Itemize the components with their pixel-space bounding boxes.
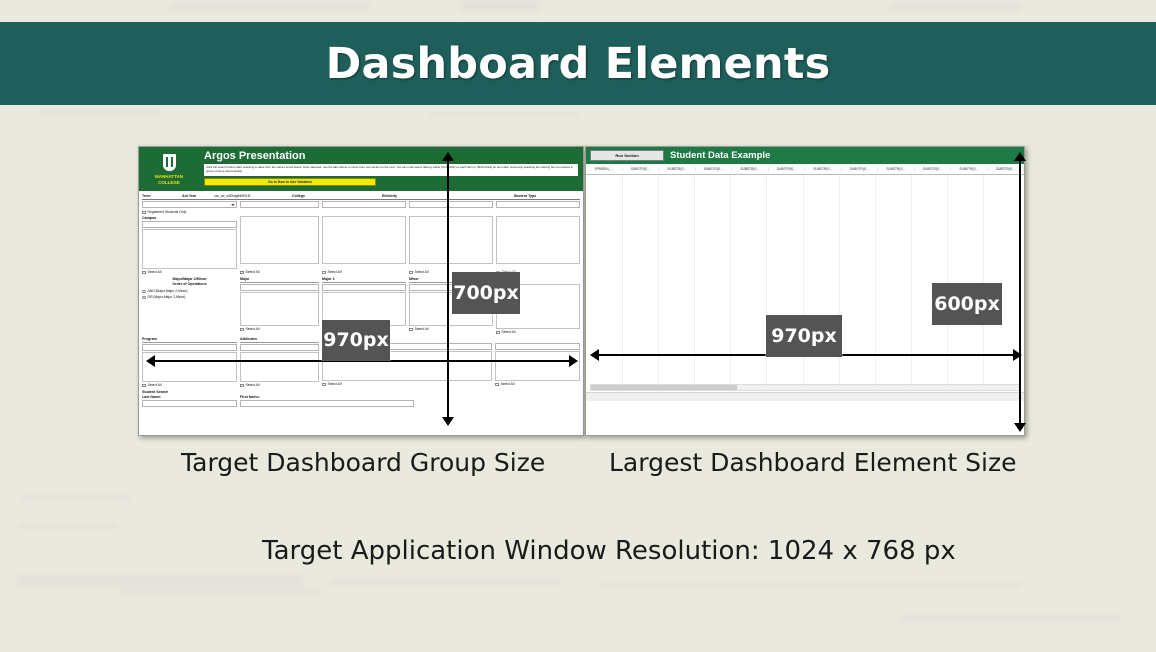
texture-streak bbox=[890, 3, 1020, 11]
radio-or-major[interactable]: OR [Major,Major 2,Minor] bbox=[142, 295, 237, 300]
program-input[interactable] bbox=[142, 344, 237, 351]
grid-column-divider bbox=[839, 175, 840, 401]
manhattan-college-logo: MANHATTAN COLLEGE bbox=[141, 149, 197, 189]
field-label-term: Term bbox=[142, 194, 182, 199]
select-all-label: Select All bbox=[246, 327, 260, 332]
arrow-line bbox=[447, 158, 449, 420]
texture-streak bbox=[900, 615, 1120, 622]
checkbox-icon bbox=[142, 384, 146, 388]
grid-column-divider bbox=[622, 175, 623, 401]
checkbox-icon bbox=[322, 271, 326, 275]
checkbox-icon bbox=[142, 271, 146, 275]
horizontal-scrollbar[interactable] bbox=[590, 384, 1020, 391]
student-type-input[interactable] bbox=[496, 201, 580, 208]
registered-students-only-checkbox[interactable]: Registered Students Only bbox=[142, 210, 580, 215]
select-all-program[interactable]: Select All bbox=[142, 383, 237, 388]
term-combo[interactable] bbox=[142, 201, 237, 208]
argos-instructions: Click the search button after selecting … bbox=[204, 164, 578, 176]
column-header[interactable]: SUBSTR(S... bbox=[878, 167, 915, 171]
student-data-header: Run Section Student Data Example bbox=[586, 147, 1024, 164]
column-header[interactable]: SUBSTR(S... bbox=[769, 167, 806, 171]
height-arrow-right bbox=[1013, 152, 1026, 432]
first-name-input[interactable] bbox=[240, 400, 414, 407]
checkbox-icon bbox=[322, 383, 326, 387]
college-listbox[interactable] bbox=[240, 216, 319, 264]
page-title: Dashboard Elements bbox=[326, 39, 831, 89]
badge-right-width: 970px bbox=[766, 315, 842, 357]
select-all-label: Select All bbox=[501, 382, 515, 387]
column-header[interactable]: SPRIDEN_... bbox=[586, 167, 623, 171]
campus-input[interactable] bbox=[142, 221, 237, 228]
field-label-major-2: Major 2 bbox=[322, 277, 406, 283]
select-all-label: Select All bbox=[148, 383, 162, 388]
arrow-line bbox=[1019, 158, 1021, 426]
badge-right-height: 600px bbox=[932, 283, 1002, 325]
texture-streak bbox=[40, 110, 160, 116]
argos-header: MANHATTAN COLLEGE Argos Presentation Cli… bbox=[139, 147, 583, 191]
column-header[interactable]: SUBSTR(S... bbox=[842, 167, 879, 171]
texture-streak bbox=[120, 588, 320, 595]
major-listbox[interactable] bbox=[240, 292, 319, 326]
select-all-label: Select All bbox=[246, 270, 260, 275]
grid-column-divider bbox=[694, 175, 695, 401]
field-label-program: Program bbox=[142, 337, 237, 343]
column-header[interactable]: SUBSTR(S... bbox=[915, 167, 952, 171]
radio-or-label: OR [Major,Major 2,Minor] bbox=[148, 295, 186, 300]
order-of-operations-title-line2: Order of Operations bbox=[142, 282, 237, 287]
texture-streak bbox=[20, 495, 130, 501]
registered-students-only-label: Registered Students Only bbox=[148, 210, 187, 215]
grid-column-divider bbox=[730, 175, 731, 401]
column-header[interactable]: SUBSTR(S... bbox=[659, 167, 696, 171]
logo-line2: COLLEGE bbox=[158, 180, 180, 186]
select-all-extra[interactable]: Select All bbox=[496, 330, 580, 335]
texture-streak bbox=[430, 112, 580, 117]
grid-column-divider bbox=[911, 175, 912, 401]
student-data-title: Student Data Example bbox=[670, 150, 770, 161]
ethnicity-listbox[interactable] bbox=[322, 216, 406, 264]
select-all-campus[interactable]: Select All bbox=[142, 270, 237, 275]
texture-streak bbox=[600, 582, 1020, 588]
arrow-head-right bbox=[569, 355, 578, 367]
misc-input-b[interactable] bbox=[495, 343, 580, 350]
select-all-ethnicity[interactable]: Select All bbox=[322, 270, 406, 275]
field-label-aid-year: Aid Year bbox=[182, 194, 214, 199]
caption-dashboard-group: Target Dashboard Group Size bbox=[181, 448, 545, 477]
select-all-label: Select All bbox=[415, 270, 429, 275]
field-label-major: Major bbox=[240, 277, 319, 283]
texture-streak bbox=[18, 575, 303, 587]
field-label-college: College bbox=[292, 194, 382, 199]
select-all-misc-a[interactable]: Select All bbox=[322, 382, 492, 387]
select-all-misc-b[interactable]: Select All bbox=[495, 382, 580, 387]
grid-column-divider bbox=[803, 175, 804, 401]
column-header[interactable]: SUBSTR(S... bbox=[623, 167, 660, 171]
column-header[interactable]: SUBSTR(S... bbox=[805, 167, 842, 171]
attributes-input[interactable] bbox=[240, 344, 319, 351]
field-value-aid-year: var_dd_wfShdgfhBEf1f2 bbox=[214, 194, 292, 199]
checkbox-icon bbox=[240, 328, 244, 332]
scrollbar-thumb[interactable] bbox=[591, 385, 737, 390]
grid-column-divider bbox=[766, 175, 767, 401]
texture-streak bbox=[460, 0, 540, 12]
column-header[interactable]: SUBSTR(S... bbox=[951, 167, 988, 171]
radio-and-major[interactable]: AND [Major,Major 2,Minor] bbox=[142, 289, 237, 294]
select-all-label: Select All bbox=[415, 327, 429, 332]
select-all-label: Select All bbox=[148, 270, 162, 275]
checkbox-icon bbox=[240, 384, 244, 388]
select-all-attributes[interactable]: Select All bbox=[240, 383, 319, 388]
radio-icon bbox=[142, 296, 146, 300]
select-all-label: Select All bbox=[328, 270, 342, 275]
column-header[interactable]: SUBSTR(S... bbox=[696, 167, 733, 171]
go-to-how-to-use-variables-button[interactable]: Go to How to Use Variables bbox=[204, 178, 376, 186]
arrow-head-bottom bbox=[442, 417, 454, 426]
select-all-college[interactable]: Select All bbox=[240, 270, 319, 275]
slide-title-banner: Dashboard Elements bbox=[0, 22, 1156, 105]
select-all-label: Select All bbox=[328, 382, 342, 387]
grid-column-divider bbox=[658, 175, 659, 401]
select-all-major[interactable]: Select All bbox=[240, 327, 319, 332]
arrow-line bbox=[152, 360, 572, 362]
radio-and-label: AND [Major,Major 2,Minor] bbox=[148, 289, 188, 294]
checkbox-icon bbox=[496, 331, 500, 335]
argos-title: Argos Presentation bbox=[204, 150, 578, 163]
shield-icon bbox=[162, 153, 177, 172]
last-name-input[interactable] bbox=[142, 400, 237, 407]
checkbox-icon bbox=[409, 271, 413, 275]
major-input[interactable] bbox=[240, 284, 319, 291]
checkbox-icon bbox=[409, 328, 413, 332]
badge-left-width: 970px bbox=[322, 320, 390, 360]
field-label-ethnicity: Ethnicity bbox=[382, 194, 470, 199]
field-label-student-type: Student Type bbox=[470, 194, 580, 199]
college-input[interactable] bbox=[322, 201, 406, 208]
badge-left-height: 700px bbox=[452, 272, 520, 314]
grid-column-divider bbox=[875, 175, 876, 401]
checkbox-icon bbox=[495, 383, 499, 387]
major-2-input[interactable] bbox=[322, 284, 406, 291]
select-all-label: Select All bbox=[502, 330, 516, 335]
aid-year-input[interactable] bbox=[240, 201, 319, 208]
run-section-button[interactable]: Run Section bbox=[590, 150, 664, 161]
checkbox-icon bbox=[240, 271, 244, 275]
texture-streak bbox=[170, 2, 370, 11]
status-bar bbox=[586, 392, 1024, 401]
texture-streak bbox=[330, 578, 560, 586]
select-all-label: Select All bbox=[246, 383, 260, 388]
caption-dashboard-element: Largest Dashboard Element Size bbox=[609, 448, 1016, 477]
student-type-listbox[interactable] bbox=[496, 216, 580, 264]
footnote-resolution: Target Application Window Resolution: 10… bbox=[262, 536, 956, 566]
arrow-head-bottom bbox=[1014, 423, 1026, 432]
texture-streak bbox=[18, 523, 118, 528]
data-grid-header-row: SPRIDEN_... SUBSTR(S... SUBSTR(S... SUBS… bbox=[586, 164, 1024, 175]
campus-listbox[interactable] bbox=[142, 229, 237, 269]
radio-icon bbox=[142, 290, 146, 294]
checkbox-icon bbox=[142, 211, 146, 215]
field-label-attributes: Attributes bbox=[240, 337, 319, 343]
column-header[interactable]: SUBSTR(S... bbox=[732, 167, 769, 171]
